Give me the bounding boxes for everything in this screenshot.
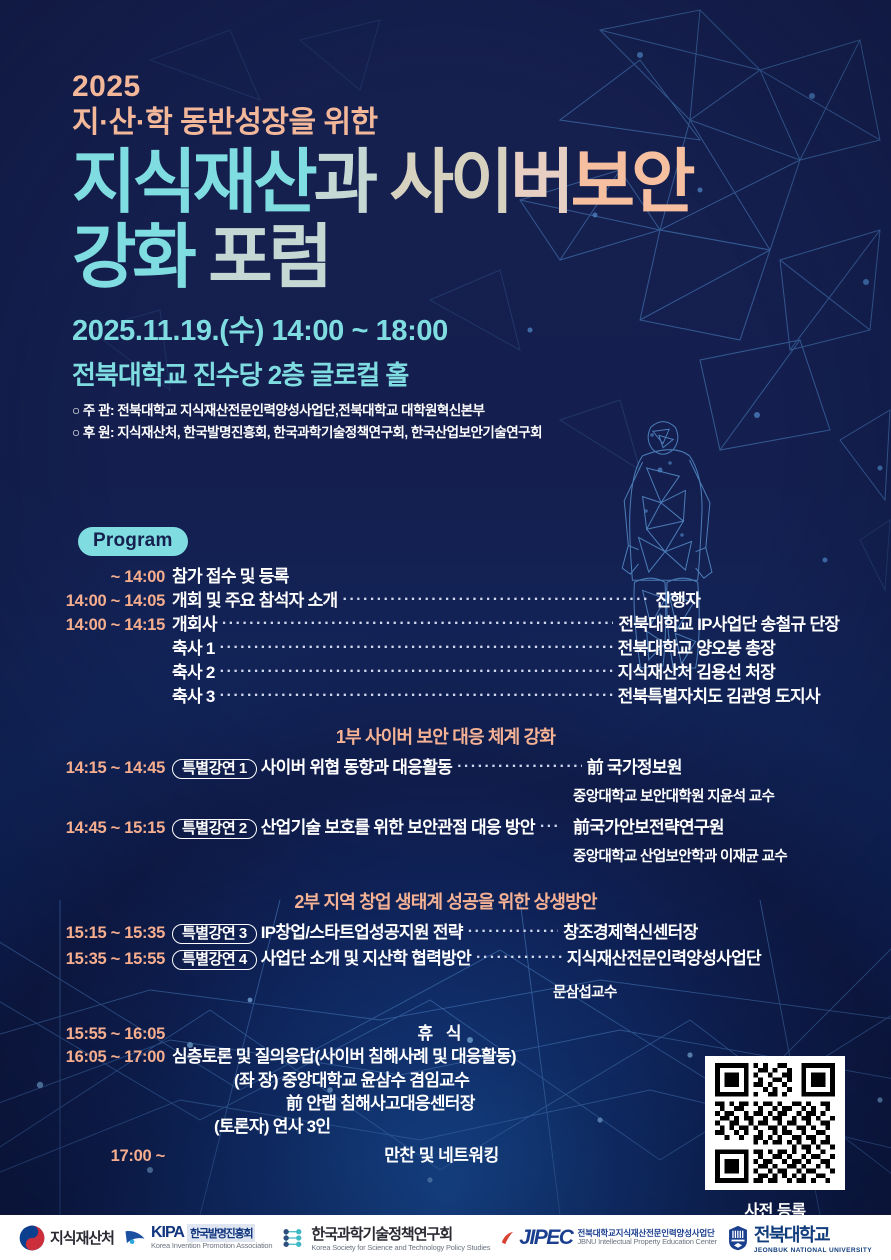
program-row: 14:00 ~ 14:05 개회 및 주요 참석자 소개 ···········… xyxy=(0,589,891,613)
logo-label: 한국과학기술정책연구회 xyxy=(311,1223,490,1244)
row-title: IP창업/스타트업성공지원 전략 xyxy=(261,924,463,941)
program-row: 14:00 ~ 14:15 개회사 ······················… xyxy=(0,613,891,637)
event-date: 2025.11.19.(수) 14:00 ~ 18:00 xyxy=(72,307,851,349)
row-speaker: 전북대학교 양오봉 총장 xyxy=(618,640,891,657)
poster-title-line1: 지식재산과 사이버보안 xyxy=(72,148,851,217)
closing-label: 만찬 및 네트워킹 xyxy=(172,1147,711,1164)
network-dots-icon xyxy=(282,1227,306,1249)
dot-leader: ········································… xyxy=(220,688,613,704)
row-speaker: 전북대학교 IP사업단 송철규 단장 xyxy=(618,616,891,633)
dot-leader: ········································… xyxy=(343,592,651,608)
row-speaker: 창조경제혁신센터장 xyxy=(563,924,891,941)
program-row: 축사 1 ···································… xyxy=(0,637,891,661)
logo-label: 전북대학교 xyxy=(754,1221,872,1247)
row-title: 사업단 소개 및 지산학 협력방안 xyxy=(261,950,471,967)
logo-label: 지식재산처 xyxy=(50,1227,114,1248)
lecture-pill: 특별강연 2 xyxy=(172,819,257,839)
program-subspeaker-row: 중앙대학교 산업보안학과 이재균 교수 xyxy=(0,842,891,868)
program-row: ~ 14:00 참가 접수 및 등록 xyxy=(0,565,891,589)
program-rows-opening: ~ 14:00 참가 접수 및 등록 14:00 ~ 14:05 개회 및 주요… xyxy=(0,565,891,709)
section1-heading: 1부 사이버 보안 대응 체계 강화 xyxy=(0,723,891,749)
program-row: 15:15 ~ 15:35 특별강연 3 IP창업/스타트업성공지원 전략 ··… xyxy=(0,921,891,947)
poster-title-line2: 강화 포럼 xyxy=(72,223,851,292)
row-speaker: 지식재산처 김용선 처장 xyxy=(618,664,891,681)
jipec-mark-icon xyxy=(500,1230,514,1246)
program-subspeaker-row: 문삼섭교수 xyxy=(0,973,891,1004)
row-title: 산업기술 보호를 위한 보안관점 대응 방안 xyxy=(261,819,535,836)
title-part-3: 사이 xyxy=(374,143,510,221)
title-part-2: 과 xyxy=(314,143,374,221)
qr-code[interactable] xyxy=(705,1056,845,1190)
row-speaker: 前 국가정보원 xyxy=(587,759,891,776)
row-speaker-detail: 중앙대학교 산업보안학과 이재균 교수 xyxy=(573,845,891,866)
event-venue: 전북대학교 진수당 2층 글로컬 홀 xyxy=(72,355,851,392)
host-line: ○ 주 관: 전북대학교 지식재산전문인력양성사업단,전북대학교 대학원혁신본부 xyxy=(72,401,851,421)
registration-qr-block[interactable]: 사전 등록 xyxy=(705,1056,845,1221)
program-row-break: 15:55 ~ 16:05 휴 식 xyxy=(0,1022,891,1046)
lecture-pill: 특별강연 3 xyxy=(172,924,257,944)
title-part-6: 강화 xyxy=(72,218,193,296)
row-speaker-detail: 문삼섭교수 xyxy=(553,981,891,1002)
row-speaker: 前국가안보전략연구원 xyxy=(573,819,891,836)
logo-jbnu: 전북대학교 JEONBUK NATIONAL UNIVERSITY xyxy=(727,1221,872,1254)
row-time: 14:15 ~ 14:45 xyxy=(0,760,172,777)
row-time: 16:05 ~ 17:00 xyxy=(0,1049,172,1066)
row-speaker: 지식재산전문인력양성사업단 xyxy=(567,950,891,967)
year-label: 2025 xyxy=(72,72,851,103)
dot-leader: ········································… xyxy=(220,640,613,656)
program-badge: Program xyxy=(78,527,188,556)
title-part-4: 버 xyxy=(510,143,570,221)
row-title: 참가 접수 및 등록 xyxy=(172,568,289,585)
row-speaker: 진행자 xyxy=(655,592,891,609)
section2-heading: 2부 지역 창업 생태계 성공을 위한 상생방안 xyxy=(0,888,891,914)
logo-label-kor: 한국발명진흥회 xyxy=(187,1224,255,1242)
row-title: 개회 및 주요 참석자 소개 xyxy=(172,592,338,609)
dot-leader: ··· xyxy=(540,819,568,835)
taegeuk-icon xyxy=(19,1225,45,1251)
sponsor-line: ○ 후 원: 지식재산처, 한국발명진흥회, 한국과학기술정책연구회, 한국산업… xyxy=(72,423,851,443)
row-title: 사이버 위협 동향과 대응활동 xyxy=(261,759,452,776)
row-title: 축사 2 xyxy=(172,664,215,681)
logo-sublabel: Korea Society for Science and Technology… xyxy=(311,1244,490,1252)
title-part-7: 포럼 xyxy=(193,218,329,296)
program-row: 축사 3 ···································… xyxy=(0,685,891,709)
dot-leader: ··············· xyxy=(476,950,562,966)
program-row: 14:15 ~ 14:45 특별강연 1 사이버 위협 동향과 대응활동 ···… xyxy=(0,756,891,782)
poster-header: 2025 지·산·학 동반성장을 위한 지식재산과 사이버보안 강화 포럼 20… xyxy=(72,72,851,442)
row-time: ~ 14:00 xyxy=(0,569,172,586)
dot-leader: ··············· xyxy=(468,924,558,940)
sponsor-logo-bar: 지식재산처 KIPA 한국발명진흥회 Korea Invention Promo… xyxy=(0,1215,891,1260)
program-row: 14:45 ~ 15:15 특별강연 2 산업기술 보호를 위한 보안관점 대응… xyxy=(0,816,891,842)
dot-leader: ········································… xyxy=(220,664,613,680)
logo-label: JIPEC xyxy=(519,1226,572,1250)
logo-kipa: KIPA 한국발명진흥회 Korea Invention Promotion A… xyxy=(124,1224,272,1250)
poster-subtitle: 지·산·학 동반성장을 위한 xyxy=(72,105,851,140)
qr-code-graphic xyxy=(712,1063,838,1183)
program-row: 축사 2 ···································… xyxy=(0,661,891,685)
logo-kstps: 한국과학기술정책연구회 Korea Society for Science an… xyxy=(282,1223,490,1252)
row-title: 개회사 xyxy=(172,616,217,633)
logo-sublabel: JBNU Intellectual Property Education Cen… xyxy=(577,1238,716,1246)
logo-sublabel: Korea Invention Promotion Association xyxy=(151,1242,272,1250)
row-time: 14:00 ~ 14:15 xyxy=(0,617,172,634)
logo-sublabel: JEONBUK NATIONAL UNIVERSITY xyxy=(754,1247,872,1254)
break-label: 휴 식 xyxy=(172,1025,711,1042)
lecture-pill: 특별강연 4 xyxy=(172,950,257,970)
row-title: 축사 1 xyxy=(172,640,215,657)
row-speaker-detail: 중앙대학교 보안대학원 지윤석 교수 xyxy=(573,785,891,806)
row-title: 축사 3 xyxy=(172,688,215,705)
program-rows-section1: 14:15 ~ 14:45 특별강연 1 사이버 위협 동향과 대응활동 ···… xyxy=(0,756,891,868)
row-time: 17:00 ~ xyxy=(0,1148,172,1165)
row-time: 14:00 ~ 14:05 xyxy=(0,593,172,610)
dot-leader: ····················· xyxy=(457,759,582,775)
row-time: 15:15 ~ 15:35 xyxy=(0,925,172,942)
dot-leader: ········································… xyxy=(222,616,614,632)
row-time: 15:35 ~ 15:55 xyxy=(0,951,172,968)
row-time: 14:45 ~ 15:15 xyxy=(0,820,172,837)
program-subspeaker-row: 중앙대학교 보안대학원 지윤석 교수 xyxy=(0,782,891,808)
jbnu-crest-icon xyxy=(727,1225,749,1251)
row-time: 15:55 ~ 16:05 xyxy=(0,1026,172,1043)
program-row: 15:35 ~ 15:55 특별강연 4 사업단 소개 및 지산학 협력방안 ·… xyxy=(0,947,891,973)
lecture-pill: 특별강연 1 xyxy=(172,759,257,779)
program-rows-section2: 15:15 ~ 15:35 특별강연 3 IP창업/스타트업성공지원 전략 ··… xyxy=(0,921,891,1004)
title-part-5: 보안 xyxy=(571,143,692,221)
logo-kipo: 지식재산처 xyxy=(19,1225,114,1251)
logo-jipec: JIPEC 전북대학교지식재산전문인력양성사업단 JBNU Intellectu… xyxy=(500,1226,717,1250)
event-poster: 2025 지·산·학 동반성장을 위한 지식재산과 사이버보안 강화 포럼 20… xyxy=(0,0,891,1260)
kipa-mark-icon xyxy=(124,1228,146,1248)
title-part-1: 지식재산 xyxy=(72,143,314,221)
logo-label: KIPA xyxy=(151,1224,184,1242)
row-speaker: 전북특별자치도 김관영 도지사 xyxy=(618,688,891,705)
